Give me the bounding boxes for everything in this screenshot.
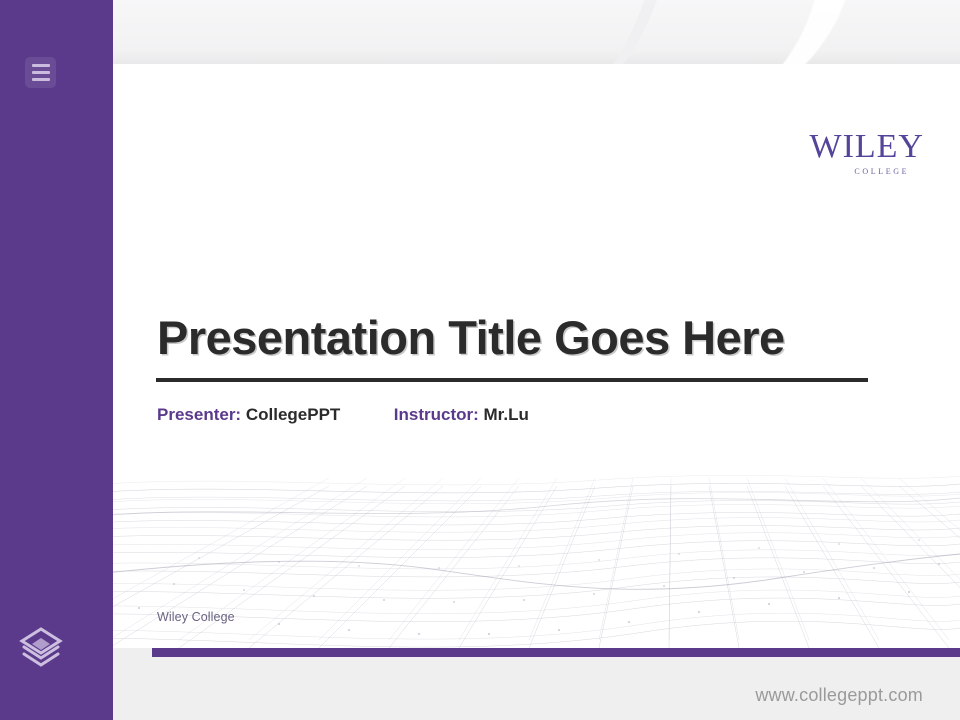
- logo-wordmark: WILEY: [809, 130, 924, 164]
- left-rail: [0, 0, 113, 720]
- slide-footer-label: Wiley College: [157, 610, 235, 624]
- background-header-band: [0, 0, 960, 64]
- wiley-college-logo: WILEY COLLEGE: [809, 130, 924, 176]
- page-title: Presentation Title Goes Here: [157, 310, 917, 365]
- title-underline-rule: [156, 378, 868, 382]
- accent-bar: [152, 648, 960, 657]
- presenter-value: CollegePPT: [246, 405, 340, 424]
- instructor-label: Instructor:: [394, 405, 479, 424]
- slide-canvas: WILEY COLLEGE Presentation Title Goes He…: [79, 64, 960, 648]
- hamburger-bar: [32, 78, 50, 81]
- layers-stack-icon[interactable]: [17, 622, 65, 670]
- background-footer-band: [0, 648, 960, 720]
- website-url: www.collegeppt.com: [755, 685, 923, 706]
- logo-subtitle: COLLEGE: [839, 167, 924, 176]
- presenter-label: Presenter:: [157, 405, 241, 424]
- hamburger-bar: [32, 64, 50, 67]
- hamburger-menu-icon[interactable]: [25, 57, 56, 88]
- presentation-slide-viewer: WILEY COLLEGE Presentation Title Goes He…: [0, 0, 960, 720]
- presentation-credits: Presenter: CollegePPT Instructor: Mr.Lu: [157, 405, 529, 425]
- instructor-value: Mr.Lu: [484, 405, 529, 424]
- hamburger-bar: [32, 71, 50, 74]
